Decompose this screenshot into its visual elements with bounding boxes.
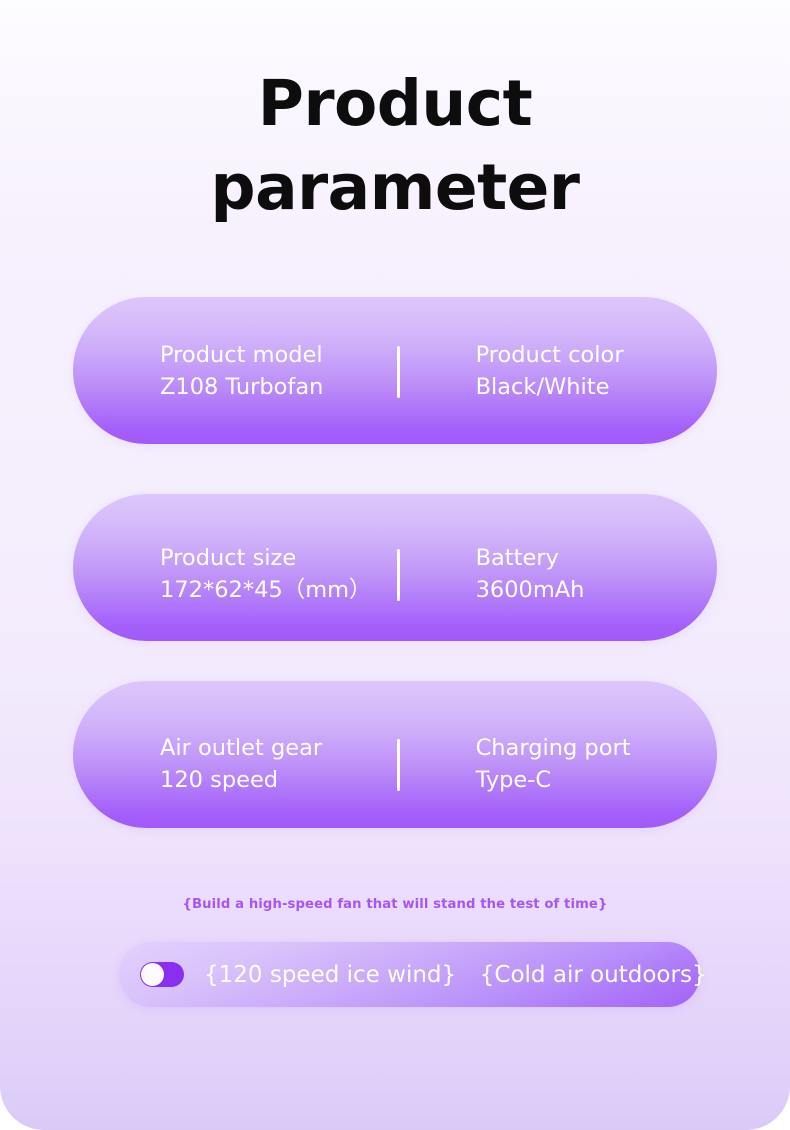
feature-label-primary: {120 speed ice wind} — [204, 962, 456, 988]
parameter-value: 3600mAh — [476, 575, 717, 607]
parameter-label: Battery — [476, 543, 717, 575]
toggle-knob-icon — [141, 963, 164, 986]
parameter-card-3-left-cell: Air outlet gear 120 speed — [160, 733, 397, 797]
parameter-label: Product model — [160, 340, 397, 372]
page-title-line-2: parameter — [0, 146, 790, 230]
parameter-card-1-left-cell: Product model Z108 Turbofan — [160, 340, 397, 404]
parameter-value: 120 speed — [160, 765, 397, 797]
parameter-card-3-content: Air outlet gear 120 speed Charging port … — [73, 681, 717, 828]
card-divider — [397, 549, 400, 601]
page-title: Product parameter — [0, 62, 790, 230]
parameter-card-1-content: Product model Z108 Turbofan Product colo… — [73, 297, 717, 444]
toggle-switch[interactable] — [140, 962, 184, 987]
page-title-line-1: Product — [258, 67, 532, 140]
parameter-card-2-content: Product size 172*62*45（mm） Battery 3600m… — [73, 494, 717, 641]
parameter-value: Black/White — [476, 372, 717, 404]
parameter-label: Product size — [160, 543, 397, 575]
tagline-caption: {Build a high-speed fan that will stand … — [0, 897, 790, 912]
parameter-card-3: Air outlet gear 120 speed Charging port … — [73, 681, 717, 828]
parameter-value: Type-C — [476, 765, 717, 797]
parameter-card-1-right-cell: Product color Black/White — [476, 340, 717, 404]
parameter-card-2-left-cell: Product size 172*62*45（mm） — [160, 543, 397, 607]
feature-label-secondary: {Cold air outdoors} — [480, 962, 707, 988]
parameter-label: Air outlet gear — [160, 733, 397, 765]
card-divider — [397, 739, 400, 791]
parameter-card-3-right-cell: Charging port Type-C — [476, 733, 717, 797]
feature-toggle-label: {120 speed ice wind} {Cold air outdoors} — [204, 962, 707, 988]
parameter-value: Z108 Turbofan — [160, 372, 397, 404]
product-parameter-page: Product parameter Product model Z108 Tur… — [0, 0, 790, 1130]
parameter-value: 172*62*45（mm） — [160, 575, 397, 607]
feature-toggle-bar[interactable]: {120 speed ice wind} {Cold air outdoors} — [119, 942, 700, 1007]
parameter-card-2-right-cell: Battery 3600mAh — [476, 543, 717, 607]
parameter-label: Charging port — [476, 733, 717, 765]
parameter-label: Product color — [476, 340, 717, 372]
card-divider — [397, 346, 400, 398]
parameter-card-1: Product model Z108 Turbofan Product colo… — [73, 297, 717, 444]
parameter-card-2: Product size 172*62*45（mm） Battery 3600m… — [73, 494, 717, 641]
